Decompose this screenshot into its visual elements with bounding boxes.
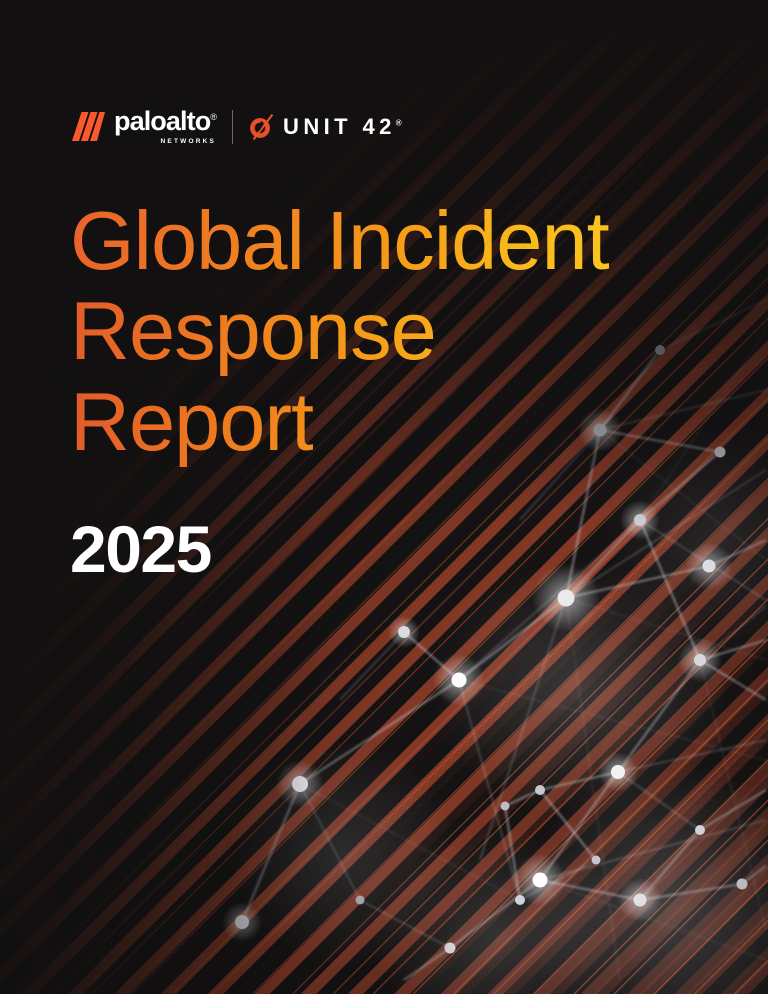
palo-alto-wordmark: paloalto® NETWORKS [114, 108, 216, 145]
report-year: 2025 [70, 516, 211, 582]
title-line-3: Report [70, 377, 730, 467]
cover-content: paloalto® NETWORKS UNIT 42® Global Incid… [0, 0, 768, 994]
unit42-mark-icon [249, 113, 274, 141]
unit42-logo: UNIT 42® [249, 113, 402, 141]
palo-alto-networks-logo: paloalto® NETWORKS [72, 108, 216, 145]
palo-alto-name-text: paloalto [114, 106, 210, 136]
unit42-name-text: UNIT 42 [283, 114, 396, 139]
report-cover: paloalto® NETWORKS UNIT 42® Global Incid… [0, 0, 768, 994]
registered-mark: ® [210, 112, 216, 122]
title-line-1: Global Incident [70, 196, 730, 286]
unit42-wordmark: UNIT 42® [283, 116, 402, 138]
palo-alto-name: paloalto® [114, 108, 216, 135]
palo-alto-networks-mark-icon [72, 112, 105, 141]
lockup-divider [232, 110, 233, 144]
brand-lockup: paloalto® NETWORKS UNIT 42® [72, 108, 402, 145]
registered-mark: ® [396, 118, 402, 127]
title-line-2: Response [70, 286, 730, 376]
page-title: Global Incident Response Report [70, 196, 730, 467]
palo-alto-subname: NETWORKS [161, 138, 217, 145]
